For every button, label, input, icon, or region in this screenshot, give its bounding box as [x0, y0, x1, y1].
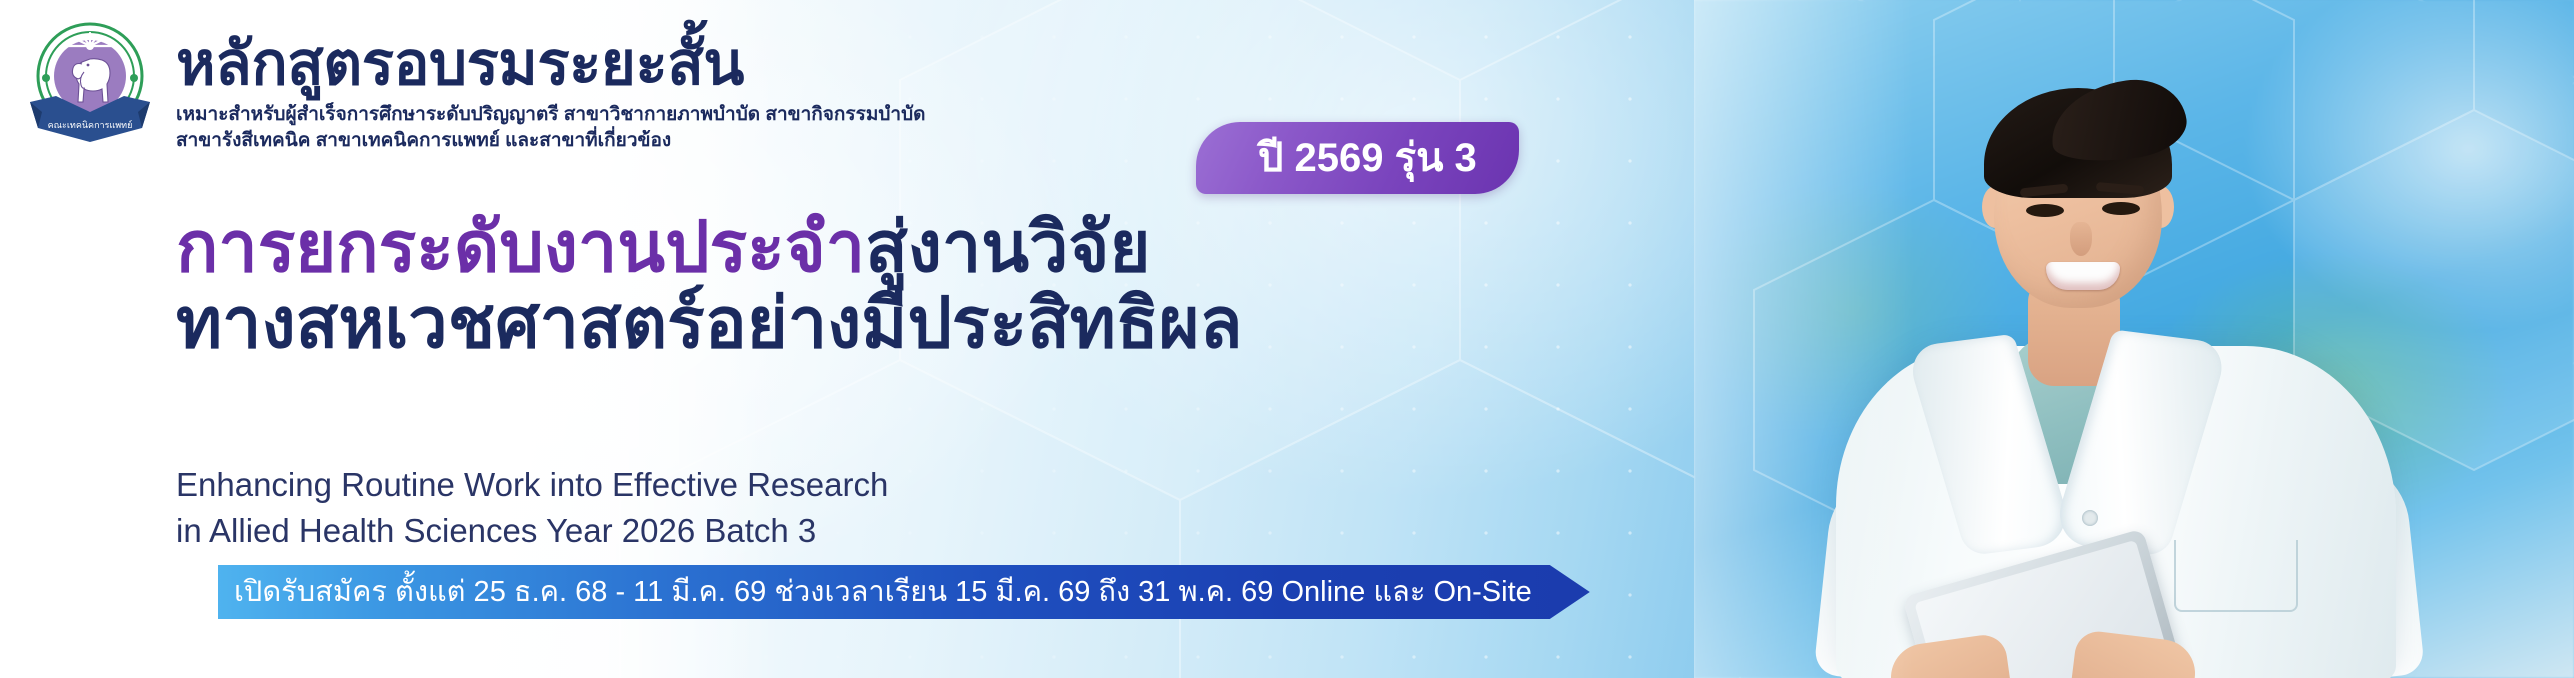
main-title-line-2: ทางสหเวชศาสตร์อย่างมีประสิทธิผล — [176, 286, 1676, 362]
english-title-line-1: Enhancing Routine Work into Effective Re… — [176, 462, 888, 508]
year-batch-badge: ปี 2569 รุ่น 3 — [1196, 122, 1519, 194]
main-title-line-1-purple: การยกระดับงานประจำ — [176, 208, 865, 286]
main-title-block: การยกระดับงานประจำสู่งานวิจัย ทางสหเวชศา… — [176, 210, 1676, 361]
header-block: หลักสูตรอบรมระยะสั้น เหมาะสำหรับผู้สำเร็… — [176, 34, 1376, 153]
registration-ribbon: เปิดรับสมัคร ตั้งแต่ 25 ธ.ค. 68 - 11 มี.… — [218, 565, 1590, 619]
eye-left — [2026, 204, 2064, 217]
year-batch-badge-label: ปี 2569 รุ่น 3 — [1258, 138, 1477, 178]
lab-coat-pocket — [2174, 540, 2298, 612]
smiling-mouth — [2046, 262, 2120, 290]
nose — [2070, 222, 2092, 256]
page-title: หลักสูตรอบรมระยะสั้น — [176, 34, 1376, 94]
main-title-line-1: การยกระดับงานประจำสู่งานวิจัย — [176, 210, 1676, 286]
promotional-banner: คณะเทคนิคการแพทย์ หลักสูตรอบรมระยะสั้น เ… — [0, 0, 2574, 678]
header-subtitle-line-1: เหมาะสำหรับผู้สำเร็จการศึกษาระดับปริญญาต… — [176, 102, 1376, 128]
eye-right — [2102, 202, 2140, 215]
english-title-block: Enhancing Routine Work into Effective Re… — [176, 462, 888, 553]
university-logo: คณะเทคนิคการแพทย์ — [24, 16, 156, 152]
logo-ribbon-text: คณะเทคนิคการแพทย์ — [48, 119, 133, 130]
main-title-line-1-navy: สู่งานวิจัย — [865, 208, 1150, 286]
header-subtitle-line-2: สาขารังสีเทคนิค สาขาเทคนิคการแพทย์ และสา… — [176, 128, 1376, 154]
photo-left-fade — [1694, 0, 1914, 678]
registration-ribbon-text: เปิดรับสมัคร ตั้งแต่ 25 ธ.ค. 68 - 11 มี.… — [234, 578, 1532, 607]
english-title-line-2: in Allied Health Sciences Year 2026 Batc… — [176, 508, 888, 554]
photo-region — [1694, 0, 2574, 678]
lab-coat-button — [2082, 510, 2098, 526]
